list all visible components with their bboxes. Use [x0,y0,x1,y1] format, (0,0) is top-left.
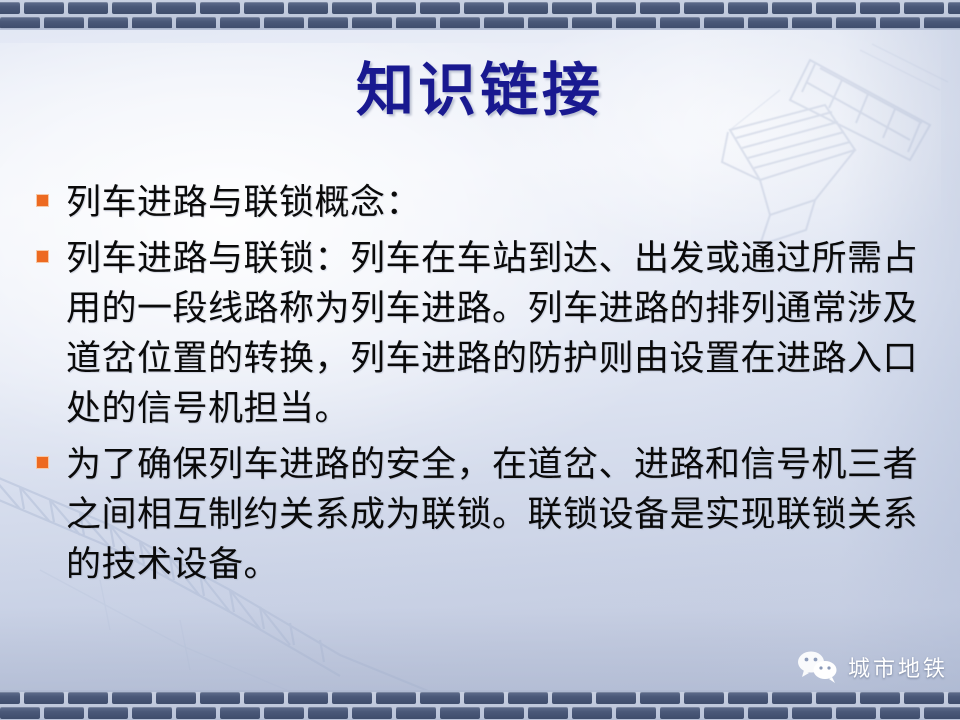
slide-body: 列车进路与联锁概念： 列车进路与联锁：列车在车站到达、出发或通过所需占用的一段线… [36,178,926,596]
bullet-text: 为了确保列车进路的安全，在道岔、进路和信号机三者之间相互制约关系成为联锁。联锁设… [66,440,926,590]
orange-square-bullet-icon [36,250,49,263]
presentation-slide: 知识链接 列车进路与联锁概念： 列车进路与联锁：列车在车站到达、出发或通过所需占… [0,0,960,720]
slide-title: 知识链接 [0,62,960,120]
bullet-item: 为了确保列车进路的安全，在道岔、进路和信号机三者之间相互制约关系成为联锁。联锁设… [36,440,926,590]
bullet-text: 列车进路与联锁：列车在车站到达、出发或通过所需占用的一段线路称为列车进路。列车进… [66,234,926,434]
bullet-text: 列车进路与联锁概念： [66,178,926,228]
orange-square-bullet-icon [36,456,49,469]
bullet-item: 列车进路与联锁概念： [36,178,926,228]
bullet-item: 列车进路与联锁：列车在车站到达、出发或通过所需占用的一段线路称为列车进路。列车进… [36,234,926,434]
orange-square-bullet-icon [36,194,49,207]
